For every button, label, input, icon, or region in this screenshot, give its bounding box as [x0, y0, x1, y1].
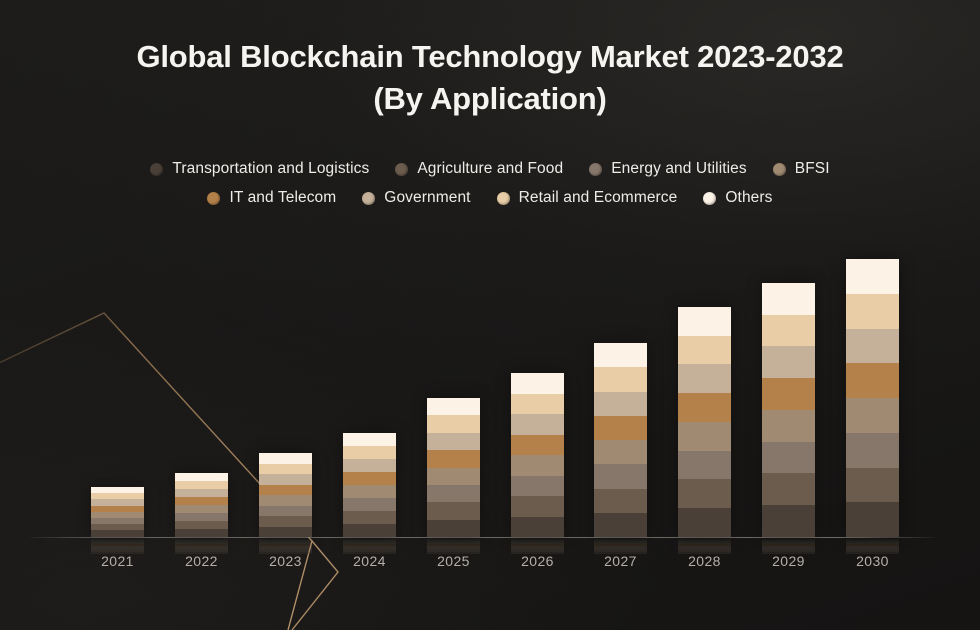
- bar-segment[interactable]: [259, 516, 312, 527]
- stacked-bar[interactable]: [846, 259, 899, 537]
- bar-segment[interactable]: [846, 433, 899, 468]
- bar-reflection-segment: [594, 544, 647, 546]
- bar-reflection-segment: [762, 542, 815, 544]
- bar-segment[interactable]: [175, 481, 228, 489]
- bar-reflection-segment: [259, 546, 312, 548]
- bar-reflection: [259, 538, 312, 554]
- bar-reflection-segment: [511, 538, 564, 540]
- bar-segment[interactable]: [343, 446, 396, 459]
- bar-segment[interactable]: [678, 336, 731, 365]
- bar-reflection-segment: [91, 550, 144, 552]
- bar-reflection-segment: [846, 548, 899, 550]
- bar-segment[interactable]: [175, 497, 228, 505]
- bar-reflection-segment: [762, 546, 815, 548]
- bar-reflection-segment: [175, 548, 228, 550]
- bar-segment[interactable]: [762, 346, 815, 378]
- bar-reflection-segment: [427, 544, 480, 546]
- bar-reflection-segment: [427, 546, 480, 548]
- x-axis-tick-label: 2030: [846, 553, 899, 569]
- bar-column-2025[interactable]: 2025: [427, 0, 480, 630]
- bar-segment[interactable]: [511, 373, 564, 394]
- bar-segment[interactable]: [259, 474, 312, 485]
- bar-reflection-segment: [846, 550, 899, 552]
- bar-reflection-segment: [427, 540, 480, 542]
- bar-segment[interactable]: [762, 410, 815, 442]
- stacked-bar[interactable]: [762, 283, 815, 537]
- x-axis-tick-label: 2024: [343, 553, 396, 569]
- bar-segment[interactable]: [846, 294, 899, 329]
- bar-segment[interactable]: [511, 414, 564, 435]
- bar-segment[interactable]: [678, 307, 731, 336]
- bar-segment[interactable]: [175, 489, 228, 497]
- bar-segment[interactable]: [427, 433, 480, 450]
- bar-segment[interactable]: [678, 479, 731, 508]
- bar-reflection-segment: [91, 542, 144, 544]
- bar-segment[interactable]: [343, 472, 396, 485]
- bar-segment[interactable]: [511, 476, 564, 497]
- bar-column-2027[interactable]: 2027: [594, 0, 647, 630]
- bar-reflection-segment: [259, 538, 312, 540]
- bar-segment[interactable]: [762, 505, 815, 537]
- bar-reflection-segment: [594, 546, 647, 548]
- x-axis-tick-label: 2022: [175, 553, 228, 569]
- bar-reflection-segment: [175, 540, 228, 542]
- bar-reflection-segment: [343, 542, 396, 544]
- bar-segment[interactable]: [511, 496, 564, 517]
- stacked-bar[interactable]: [511, 373, 564, 537]
- bar-reflection-segment: [91, 540, 144, 542]
- bar-reflection-segment: [846, 538, 899, 540]
- bar-reflection-segment: [594, 548, 647, 550]
- bar-reflection-segment: [511, 542, 564, 544]
- bar-reflection-segment: [91, 548, 144, 550]
- bar-segment[interactable]: [678, 451, 731, 480]
- bar-segment[interactable]: [511, 435, 564, 456]
- bar-column-2030[interactable]: 2030: [846, 0, 899, 630]
- stacked-bar[interactable]: [427, 398, 480, 537]
- bar-segment[interactable]: [846, 468, 899, 503]
- bar-segment[interactable]: [594, 513, 647, 537]
- bar-reflection-segment: [678, 548, 731, 550]
- bar-reflection-segment: [91, 544, 144, 546]
- bar-segment[interactable]: [175, 473, 228, 481]
- bar-segment[interactable]: [846, 259, 899, 294]
- bar-segment[interactable]: [259, 464, 312, 475]
- bar-reflection: [427, 538, 480, 554]
- bar-segment[interactable]: [846, 502, 899, 537]
- bar-reflection-segment: [594, 540, 647, 542]
- bar-segment[interactable]: [762, 315, 815, 347]
- bar-reflection-segment: [594, 538, 647, 540]
- bar-segment[interactable]: [594, 464, 647, 488]
- bar-reflection-segment: [343, 544, 396, 546]
- bar-reflection-segment: [511, 548, 564, 550]
- bar-reflection-segment: [678, 550, 731, 552]
- bar-reflection-segment: [846, 542, 899, 544]
- x-axis-tick-label: 2023: [259, 553, 312, 569]
- bar-reflection-segment: [678, 538, 731, 540]
- bar-segment[interactable]: [259, 527, 312, 538]
- bar-segment[interactable]: [594, 343, 647, 367]
- bar-reflection-segment: [511, 540, 564, 542]
- bar-reflection-segment: [427, 548, 480, 550]
- bar-reflection-segment: [175, 542, 228, 544]
- bar-reflection-segment: [91, 538, 144, 540]
- bar-reflection-segment: [511, 550, 564, 552]
- bar-segment[interactable]: [427, 415, 480, 432]
- bar-segment[interactable]: [343, 498, 396, 511]
- bar-reflection-segment: [594, 542, 647, 544]
- bar-column-2022[interactable]: 2022: [175, 0, 228, 630]
- bar-segment[interactable]: [594, 440, 647, 464]
- bar-reflection: [678, 538, 731, 554]
- stacked-bar[interactable]: [594, 343, 647, 537]
- bar-segment[interactable]: [259, 506, 312, 517]
- bar-reflection: [594, 538, 647, 554]
- bar-column-2024[interactable]: 2024: [343, 0, 396, 630]
- bar-reflection-segment: [762, 550, 815, 552]
- bar-reflection: [343, 538, 396, 554]
- bar-column-2021[interactable]: 2021: [91, 0, 144, 630]
- bar-reflection-segment: [175, 538, 228, 540]
- stacked-bar[interactable]: [259, 453, 312, 537]
- bar-reflection-segment: [678, 542, 731, 544]
- bar-reflection-segment: [259, 550, 312, 552]
- bar-segment[interactable]: [678, 393, 731, 422]
- chart-canvas: Global Blockchain Technology Market 2023…: [0, 0, 980, 630]
- bar-segment[interactable]: [343, 524, 396, 537]
- bar-segment[interactable]: [427, 468, 480, 485]
- bar-column-2026[interactable]: 2026: [511, 0, 564, 630]
- bar-segment[interactable]: [762, 442, 815, 474]
- bar-reflection-segment: [511, 544, 564, 546]
- bar-reflection-segment: [678, 540, 731, 542]
- stacked-bar[interactable]: [343, 433, 396, 537]
- bar-reflection-segment: [259, 548, 312, 550]
- bar-segment[interactable]: [175, 529, 228, 537]
- x-axis-tick-label: 2027: [594, 553, 647, 569]
- x-axis-tick-label: 2028: [678, 553, 731, 569]
- bar-segment[interactable]: [427, 450, 480, 467]
- bar-reflection-segment: [762, 544, 815, 546]
- bar-segment[interactable]: [427, 485, 480, 502]
- bar-segment[interactable]: [343, 433, 396, 446]
- bar-segment[interactable]: [846, 329, 899, 364]
- bar-reflection-segment: [175, 550, 228, 552]
- bar-reflection-segment: [175, 546, 228, 548]
- bar-segment[interactable]: [343, 485, 396, 498]
- bar-reflection-segment: [511, 546, 564, 548]
- bar-segment[interactable]: [175, 505, 228, 513]
- bar-segment[interactable]: [343, 511, 396, 524]
- bar-reflection-segment: [846, 544, 899, 546]
- bar-segment[interactable]: [427, 502, 480, 519]
- bar-reflection-segment: [678, 544, 731, 546]
- bar-reflection-segment: [343, 550, 396, 552]
- bar-segment[interactable]: [594, 367, 647, 391]
- bar-reflection-segment: [846, 546, 899, 548]
- bar-segment[interactable]: [762, 283, 815, 315]
- bar-segment[interactable]: [678, 508, 731, 537]
- bar-segment[interactable]: [91, 530, 144, 536]
- bar-reflection-segment: [762, 538, 815, 540]
- bar-reflection: [511, 538, 564, 554]
- bar-reflection-segment: [259, 544, 312, 546]
- bar-segment[interactable]: [259, 453, 312, 464]
- bar-reflection: [846, 538, 899, 554]
- bar-segment[interactable]: [762, 473, 815, 505]
- plot-area: 2021202220232024202520262027202820292030: [0, 0, 980, 630]
- bar-segment[interactable]: [511, 455, 564, 476]
- x-axis-tick-label: 2021: [91, 553, 144, 569]
- bar-segment[interactable]: [762, 378, 815, 410]
- bar-reflection-segment: [427, 538, 480, 540]
- bar-reflection: [175, 538, 228, 554]
- bar-reflection: [91, 538, 144, 554]
- bar-segment[interactable]: [511, 394, 564, 415]
- bar-reflection-segment: [259, 540, 312, 542]
- bar-segment[interactable]: [259, 495, 312, 506]
- bar-reflection-segment: [91, 546, 144, 548]
- bar-column-2023[interactable]: 2023: [259, 0, 312, 630]
- bar-reflection: [762, 538, 815, 554]
- bar-segment[interactable]: [678, 422, 731, 451]
- bar-segment[interactable]: [175, 513, 228, 521]
- bar-segment[interactable]: [594, 392, 647, 416]
- bar-segment[interactable]: [175, 521, 228, 529]
- bar-segment[interactable]: [343, 459, 396, 472]
- bar-reflection-segment: [762, 548, 815, 550]
- bar-segment[interactable]: [259, 485, 312, 496]
- bar-reflection-segment: [259, 542, 312, 544]
- bar-reflection-segment: [175, 544, 228, 546]
- bar-reflection-segment: [343, 540, 396, 542]
- bar-segment[interactable]: [846, 363, 899, 398]
- bar-reflection-segment: [427, 542, 480, 544]
- bar-segment[interactable]: [511, 517, 564, 538]
- bar-segment[interactable]: [846, 398, 899, 433]
- bar-column-2029[interactable]: 2029: [762, 0, 815, 630]
- bar-reflection-segment: [343, 538, 396, 540]
- x-axis-tick-label: 2029: [762, 553, 815, 569]
- bar-segment[interactable]: [594, 416, 647, 440]
- stacked-bar[interactable]: [678, 307, 731, 537]
- stacked-bar[interactable]: [175, 473, 228, 537]
- bar-reflection-segment: [427, 550, 480, 552]
- bar-segment[interactable]: [427, 398, 480, 415]
- bar-reflection-segment: [594, 550, 647, 552]
- bar-segment[interactable]: [678, 364, 731, 393]
- bar-reflection-segment: [762, 540, 815, 542]
- bar-reflection-segment: [678, 546, 731, 548]
- x-axis-tick-label: 2025: [427, 553, 480, 569]
- x-axis-tick-label: 2026: [511, 553, 564, 569]
- bar-column-2028[interactable]: 2028: [678, 0, 731, 630]
- bar-segment[interactable]: [594, 489, 647, 513]
- stacked-bar[interactable]: [91, 487, 144, 537]
- bar-reflection-segment: [343, 548, 396, 550]
- bar-segment[interactable]: [427, 520, 480, 537]
- bar-reflection-segment: [343, 546, 396, 548]
- bar-reflection-segment: [846, 540, 899, 542]
